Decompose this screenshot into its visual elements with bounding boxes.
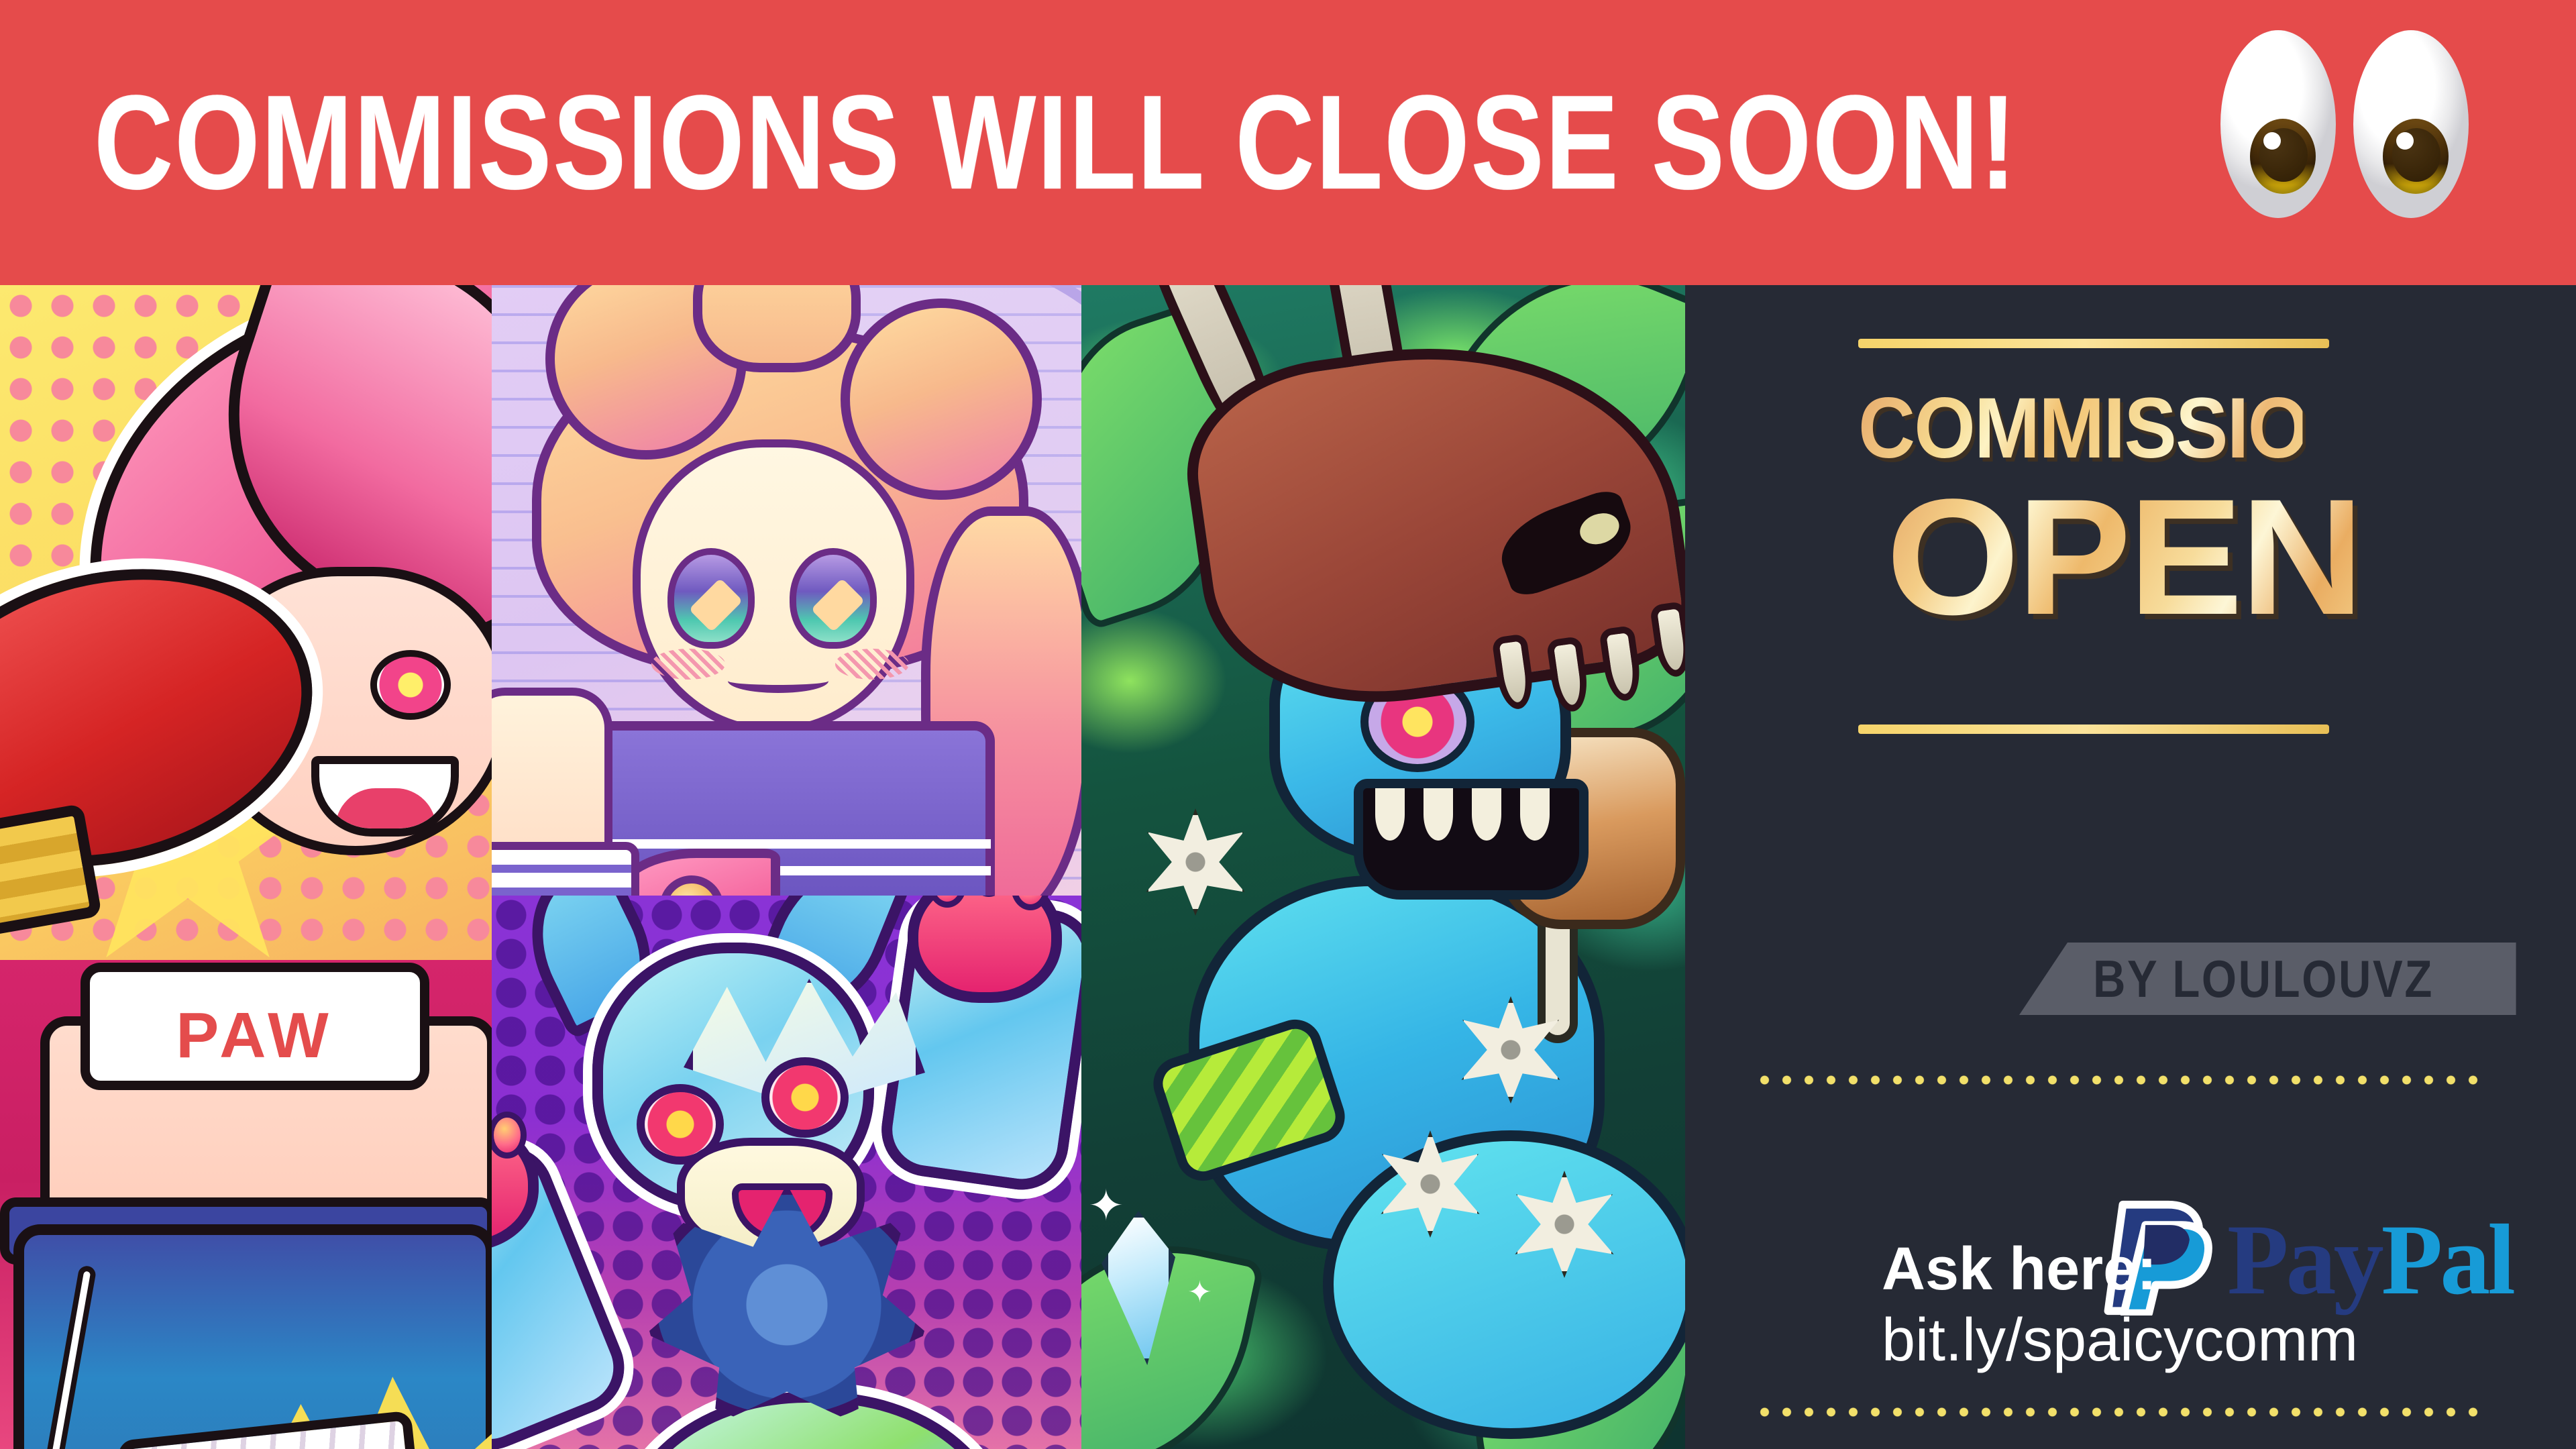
artwork-thumbnail-pink-boxer[interactable]: PAW <box>0 285 492 1449</box>
collar-stripe-2 <box>588 839 991 849</box>
character-face <box>633 439 914 735</box>
announcement-banner: COMMISSIONS WILL CLOSE SOON! <box>0 0 2576 285</box>
gold-rule-top <box>1858 339 2329 348</box>
character-eye-left <box>667 548 755 649</box>
commissions-open-logo: COMMISSIONS OPEN <box>1858 386 2341 637</box>
artist-byline-banner: BY LOULOUVZ <box>2019 943 2516 1015</box>
fang-3 <box>1472 788 1501 841</box>
character-shorts <box>13 1224 492 1449</box>
glint-left <box>2263 132 2281 150</box>
blush-right <box>835 649 909 680</box>
artwork-thumbnail-rainbow-feline[interactable] <box>492 896 1081 1449</box>
paypal-word-pal: Pal <box>2381 1204 2513 1316</box>
character-eye-right <box>790 548 877 649</box>
pupil-left <box>2259 128 2308 182</box>
poster-canvas: COMMISSIONS WILL CLOSE SOON! <box>0 0 2576 1449</box>
hair-bun-right <box>841 299 1042 500</box>
character-hip <box>1323 1130 1685 1439</box>
fang-4 <box>1520 788 1550 841</box>
artist-byline-text: BY LOULOUVZ <box>2093 949 2434 1010</box>
glint-right <box>2396 132 2414 150</box>
character-head <box>592 943 874 1211</box>
sparkle-icon-1: ✦ <box>1088 1184 1124 1227</box>
character-crop-top: PAW <box>80 963 429 1090</box>
toe-bean-2 <box>969 896 1008 897</box>
eye-sparkle-right <box>811 578 865 633</box>
character-mouth <box>311 756 459 837</box>
banner-headline: COMMISSIONS WILL CLOSE SOON! <box>94 76 2017 210</box>
toe-bean-1 <box>928 896 967 908</box>
character-tongue <box>335 788 436 828</box>
dotted-divider-top <box>1754 1073 2485 1087</box>
crop-top-text: PAW <box>90 999 420 1073</box>
artwork-thumbnail-magical-girl[interactable] <box>492 285 1081 896</box>
contact-label: Ask here: <box>1882 1234 2358 1304</box>
eyes-emoji-right <box>2353 30 2469 218</box>
fang-1 <box>1375 788 1405 841</box>
character-mouth <box>1354 779 1589 900</box>
eyes-emoji-left <box>2220 30 2336 218</box>
artwork-thumbnail-jungle-reptile[interactable]: ✦ ✦ <box>1081 285 1685 1449</box>
dotted-divider-bottom <box>1754 1405 2485 1419</box>
eyes-emoji <box>2220 30 2489 218</box>
hair-topknot <box>693 285 861 372</box>
contact-link[interactable]: bit.ly/spaicycomm <box>1882 1304 2358 1378</box>
contact-block: Ask here: bit.ly/spaicycomm <box>1882 1234 2358 1378</box>
fang-2 <box>1424 788 1453 841</box>
iris-left <box>2250 119 2316 194</box>
gold-rule-bottom <box>1858 724 2329 734</box>
eye-sparkle-left <box>689 578 743 633</box>
character-eye-right <box>761 1057 849 1138</box>
toe-bean-6 <box>492 1112 527 1159</box>
logo-line-commissions: COMMISSIONS <box>1858 386 2302 472</box>
iris-right <box>2383 119 2449 194</box>
blush-left <box>651 649 725 680</box>
uniform-sleeve <box>492 842 639 896</box>
logo-line-open: OPEN <box>1858 478 2361 637</box>
skull-eye-socket <box>1491 486 1642 601</box>
character-eye-right <box>370 650 451 720</box>
sparkle-icon-2: ✦ <box>1187 1278 1212 1307</box>
toe-bean-3 <box>1011 896 1050 910</box>
character-smile <box>728 669 828 693</box>
pupil-right <box>2392 128 2440 182</box>
